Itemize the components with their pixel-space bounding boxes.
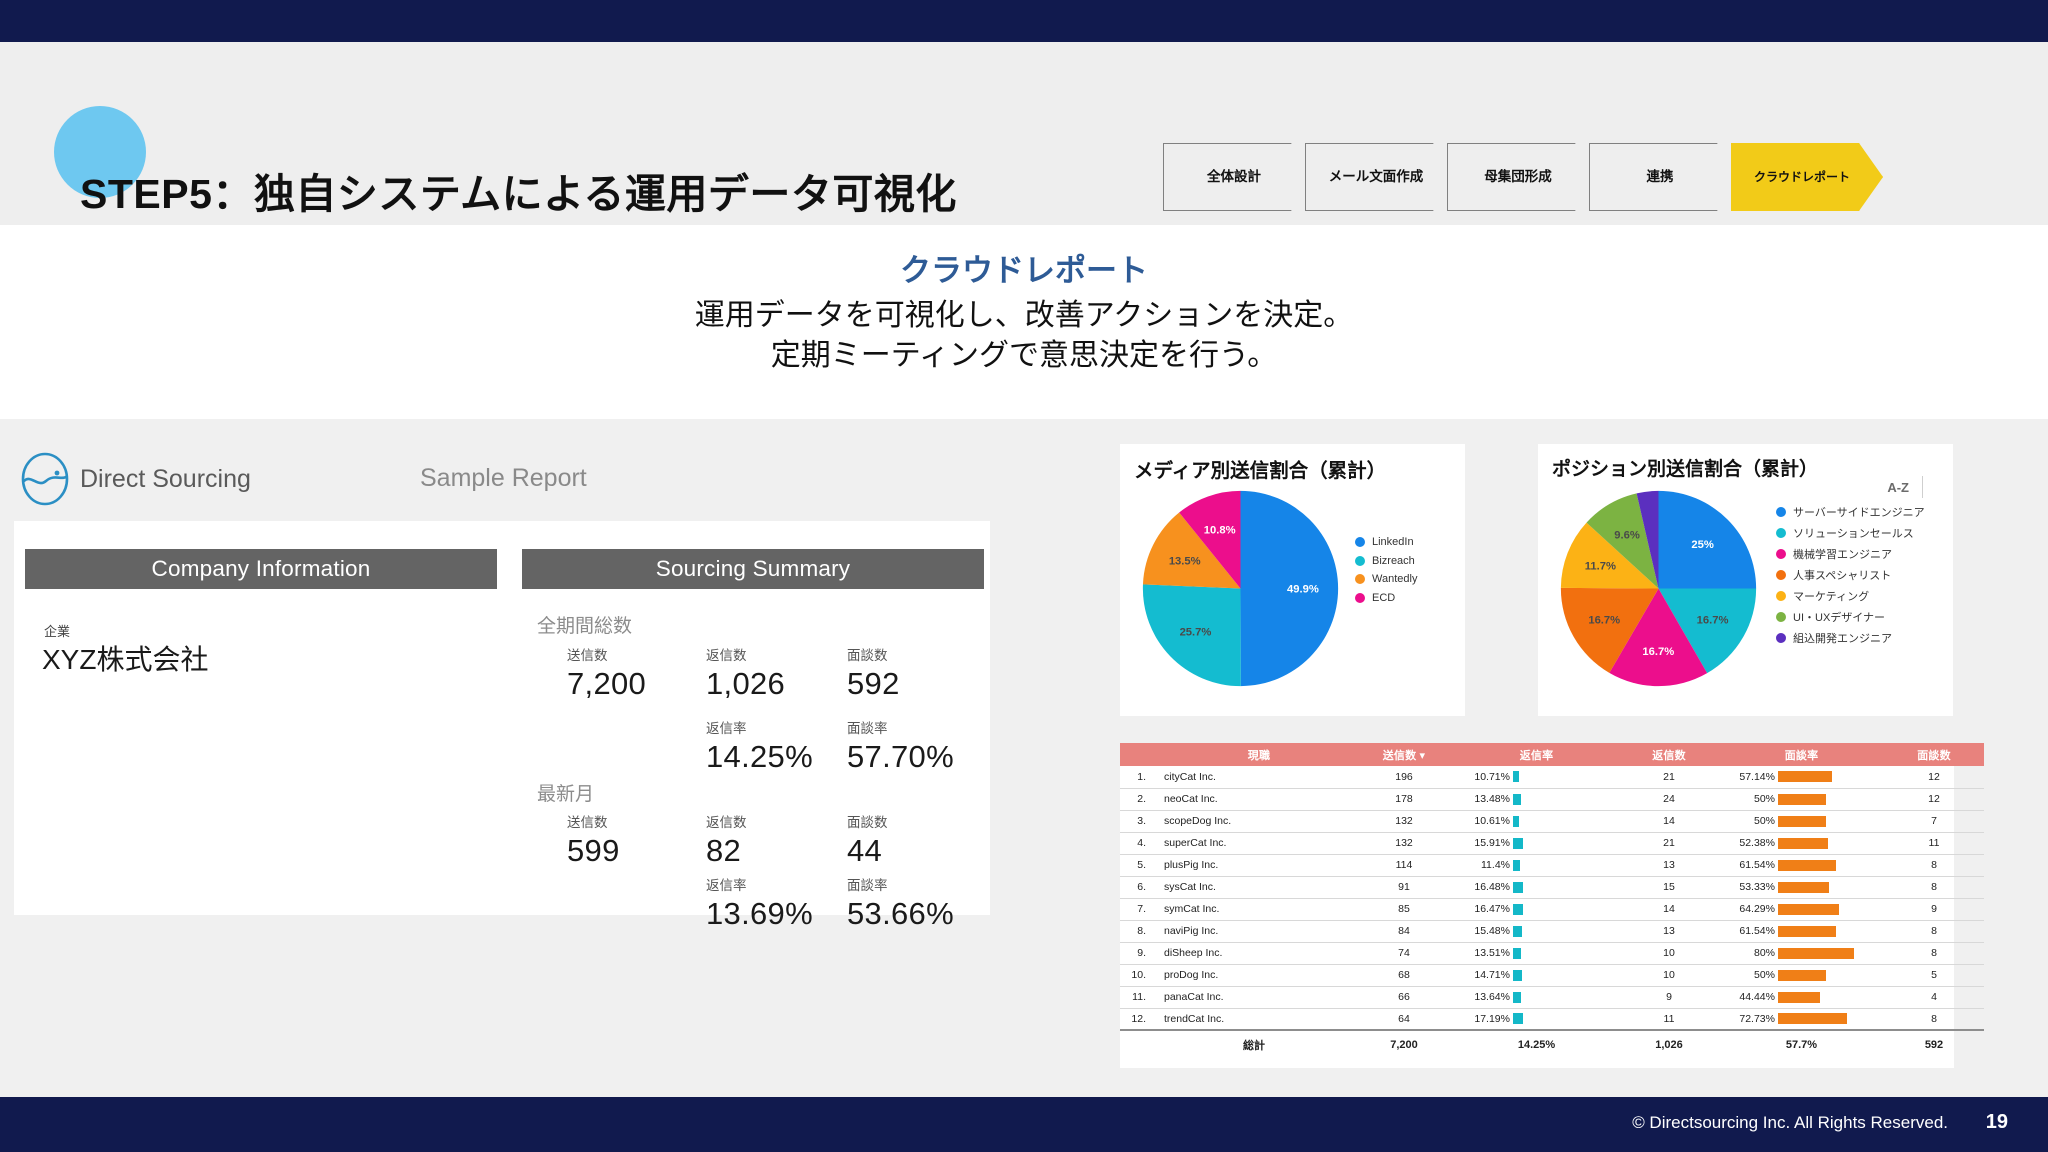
- position-pie-chart: 25%16.7%16.7%16.7%11.7%9.6%: [1556, 486, 1761, 691]
- pie-slice-label: 16.7%: [1697, 615, 1729, 627]
- legend-color-swatch: [1776, 528, 1786, 538]
- total-meetings: 592: [1884, 1030, 1984, 1058]
- metric-total-replies-label: 返信数: [706, 644, 785, 664]
- cell-index: 3.: [1120, 810, 1154, 832]
- subtitle-heading: クラウドレポート: [0, 245, 2048, 290]
- cell-meeting-rate-bar: [1778, 882, 1829, 893]
- position-pie-legend: サーバーサイドエンジニアソリューションセールス機械学習エンジニア人事スペシャリス…: [1776, 504, 1925, 651]
- cell-index: 9.: [1120, 942, 1154, 964]
- legend-color-swatch: [1355, 556, 1365, 566]
- legend-label: UI・UXデザイナー: [1793, 609, 1885, 625]
- metric-total-sent: 送信数 7,200: [567, 644, 646, 702]
- cell-sent: 132: [1354, 810, 1454, 832]
- subtitle-line-1: 運用データを可視化し、改善アクションを決定。: [0, 296, 2048, 336]
- metric-month-replies-label: 返信数: [706, 811, 747, 831]
- cell-company: scopeDog Inc.: [1154, 810, 1354, 832]
- th-reply-rate[interactable]: 返信率: [1454, 743, 1619, 766]
- cell-company: plusPig Inc.: [1154, 854, 1354, 876]
- metric-total-meetings-value: 592: [847, 666, 900, 702]
- table-row[interactable]: 2.neoCat Inc.17813.48%2450%12: [1120, 788, 1984, 810]
- metric-month-meeting-rate-value: 53.66%: [847, 896, 954, 932]
- legend-item[interactable]: LinkedIn: [1355, 536, 1417, 548]
- cell-reply-rate-text: 17.19%: [1454, 1013, 1510, 1025]
- cell-sent: 196: [1354, 766, 1454, 788]
- pie-slice-label: 25.7%: [1180, 627, 1212, 639]
- cell-reply-rate-bar: [1513, 882, 1523, 893]
- cell-meeting-rate: 64.29%: [1719, 898, 1884, 920]
- cell-reply-rate: 16.47%: [1454, 898, 1619, 920]
- cell-reply-rate-bar: [1513, 970, 1522, 981]
- cell-meeting-rate-text: 44.44%: [1719, 991, 1775, 1003]
- cell-sent: 74: [1354, 942, 1454, 964]
- cell-company: superCat Inc.: [1154, 832, 1354, 854]
- cell-replies: 24: [1619, 788, 1719, 810]
- cell-meeting-rate-bar: [1778, 794, 1826, 805]
- cell-meeting-rate-bar: [1778, 970, 1826, 981]
- table-total-row: 総計7,20014.25%1,02657.7%592: [1120, 1030, 1984, 1058]
- sort-az-icon[interactable]: A-Z: [1887, 480, 1909, 495]
- cell-replies: 21: [1619, 832, 1719, 854]
- pie-slice-label: 13.5%: [1169, 555, 1201, 567]
- cell-company: trendCat Inc.: [1154, 1008, 1354, 1030]
- cell-reply-rate: 11.4%: [1454, 854, 1619, 876]
- report-summary-card: Company Information Sourcing Summary 企業 …: [14, 521, 990, 915]
- cell-reply-rate: 16.48%: [1454, 876, 1619, 898]
- th-company[interactable]: 現職: [1154, 743, 1354, 766]
- step-breadcrumb: 全体設計 メール文面作成 母集団形成 連携 クラウドレポート: [1163, 143, 1873, 211]
- cell-index: 11.: [1120, 986, 1154, 1008]
- cell-meetings: 5: [1884, 964, 1984, 986]
- cell-replies: 10: [1619, 964, 1719, 986]
- cell-reply-rate: 13.64%: [1454, 986, 1619, 1008]
- cell-reply-rate-bar: [1513, 771, 1519, 782]
- cell-index: 8.: [1120, 920, 1154, 942]
- cell-meeting-rate-text: 50%: [1719, 969, 1775, 981]
- cell-meeting-rate: 80%: [1719, 942, 1884, 964]
- cell-meeting-rate: 57.14%: [1719, 766, 1884, 788]
- th-replies[interactable]: 返信数: [1619, 743, 1719, 766]
- cell-sent: 84: [1354, 920, 1454, 942]
- cell-meeting-rate-bar: [1778, 1013, 1847, 1024]
- legend-item[interactable]: Wantedly: [1355, 573, 1417, 585]
- cell-sent: 91: [1354, 876, 1454, 898]
- cell-meeting-rate-text: 52.38%: [1719, 837, 1775, 849]
- legend-item[interactable]: マーケティング: [1776, 588, 1925, 604]
- cell-sent: 178: [1354, 788, 1454, 810]
- metric-month-sent: 送信数 599: [567, 811, 620, 869]
- total-replies: 1,026: [1619, 1030, 1719, 1058]
- legend-label: ECD: [1372, 592, 1395, 604]
- metric-month-meetings-label: 面談数: [847, 811, 888, 831]
- cell-meeting-rate-bar: [1778, 926, 1836, 937]
- total-reply-rate: 14.25%: [1454, 1030, 1619, 1058]
- metric-total-reply-rate-value: 14.25%: [706, 739, 813, 775]
- metric-month-sent-value: 599: [567, 833, 620, 869]
- cell-reply-rate-bar: [1513, 838, 1523, 849]
- cell-meeting-rate: 50%: [1719, 810, 1884, 832]
- cell-meeting-rate: 61.54%: [1719, 920, 1884, 942]
- cell-reply-rate: 14.71%: [1454, 964, 1619, 986]
- cell-reply-rate-text: 14.71%: [1454, 969, 1510, 981]
- cell-replies: 9: [1619, 986, 1719, 1008]
- cell-meeting-rate-text: 72.73%: [1719, 1013, 1775, 1025]
- cell-reply-rate-text: 13.48%: [1454, 793, 1510, 805]
- th-meetings[interactable]: 面談数: [1884, 743, 1984, 766]
- group-title-latest-month: 最新月: [537, 779, 594, 806]
- report-header: Direct Sourcing Sample Report: [0, 440, 990, 528]
- cell-sent: 85: [1354, 898, 1454, 920]
- cell-reply-rate: 10.61%: [1454, 810, 1619, 832]
- cell-replies: 14: [1619, 898, 1719, 920]
- legend-label: LinkedIn: [1372, 536, 1414, 548]
- top-navy-bar: [0, 0, 2048, 42]
- cell-meeting-rate-bar: [1778, 860, 1836, 871]
- step-chevron-3-label: 母集団形成: [1478, 168, 1568, 186]
- cell-meetings: 11: [1884, 832, 1984, 854]
- subtitle-line-2: 定期ミーティングで意思決定を行う。: [0, 336, 2048, 376]
- table-row[interactable]: 10.proDog Inc.6814.71%1050%5: [1120, 964, 1984, 986]
- table-row[interactable]: 4.superCat Inc.13215.91%2152.38%11: [1120, 832, 1984, 854]
- metric-month-meetings: 面談数 44: [847, 811, 888, 869]
- cell-reply-rate-text: 13.64%: [1454, 991, 1510, 1003]
- legend-item[interactable]: ECD: [1355, 592, 1417, 604]
- cell-index: 10.: [1120, 964, 1154, 986]
- cell-replies: 13: [1619, 920, 1719, 942]
- metric-total-replies-value: 1,026: [706, 666, 785, 702]
- legend-color-swatch: [1776, 507, 1786, 517]
- footer-page-number: 19: [1986, 1111, 2008, 1134]
- cell-company: neoCat Inc.: [1154, 788, 1354, 810]
- cell-reply-rate-bar: [1513, 860, 1520, 871]
- step-chevron-2[interactable]: メール文面作成: [1305, 143, 1457, 211]
- table-row[interactable]: 3.scopeDog Inc.13210.61%1450%7: [1120, 810, 1984, 832]
- table-row[interactable]: 1.cityCat Inc.19610.71%2157.14%12: [1120, 766, 1984, 788]
- cell-reply-rate: 15.48%: [1454, 920, 1619, 942]
- metric-total-reply-rate: 返信率 14.25%: [706, 717, 813, 775]
- legend-color-swatch: [1355, 593, 1365, 603]
- step-chevron-3[interactable]: 母集団形成: [1447, 143, 1599, 211]
- step-chevron-5[interactable]: クラウドレポート: [1731, 143, 1883, 211]
- cell-company: symCat Inc.: [1154, 898, 1354, 920]
- cell-reply-rate-text: 11.4%: [1454, 859, 1510, 871]
- company-ranking-table-card: 現職 送信数 ▾ 返信率 返信数 面談率 面談数 1.cityCat Inc.1…: [1120, 743, 1954, 1068]
- cell-meeting-rate-text: 53.33%: [1719, 881, 1775, 893]
- pie-slice-label: 25%: [1691, 539, 1713, 551]
- step-chevron-4-label: 連携: [1641, 168, 1690, 186]
- metric-month-meetings-value: 44: [847, 833, 888, 869]
- metric-month-replies: 返信数 82: [706, 811, 747, 869]
- table-row[interactable]: 11.panaCat Inc.6613.64%944.44%4: [1120, 986, 1984, 1008]
- cell-reply-rate-text: 16.47%: [1454, 903, 1510, 915]
- cell-meeting-rate-bar: [1778, 948, 1854, 959]
- cell-replies: 10: [1619, 942, 1719, 964]
- metric-total-meetings: 面談数 592: [847, 644, 900, 702]
- cell-sent: 132: [1354, 832, 1454, 854]
- metric-month-reply-rate-label: 返信率: [706, 874, 813, 894]
- cell-meetings: 7: [1884, 810, 1984, 832]
- cell-replies: 13: [1619, 854, 1719, 876]
- cell-replies: 15: [1619, 876, 1719, 898]
- sourcing-summary-header: Sourcing Summary: [522, 549, 984, 589]
- pie-slice-label: 16.7%: [1588, 614, 1620, 626]
- metric-total-sent-label: 送信数: [567, 644, 646, 664]
- cell-meeting-rate-text: 61.54%: [1719, 859, 1775, 871]
- legend-label: 組込開発エンジニア: [1793, 630, 1892, 646]
- legend-label: 機械学習エンジニア: [1793, 546, 1892, 562]
- metric-month-replies-value: 82: [706, 833, 747, 869]
- cell-reply-rate: 17.19%: [1454, 1008, 1619, 1030]
- legend-item[interactable]: 組込開発エンジニア: [1776, 630, 1925, 646]
- cell-reply-rate-bar: [1513, 904, 1523, 915]
- cell-meeting-rate: 72.73%: [1719, 1008, 1884, 1030]
- legend-item[interactable]: Bizreach: [1355, 555, 1417, 567]
- cell-replies: 21: [1619, 766, 1719, 788]
- toolbar-divider: [1922, 476, 1923, 498]
- cell-meeting-rate-bar: [1778, 838, 1828, 849]
- metric-month-reply-rate: 返信率 13.69%: [706, 874, 813, 932]
- cell-meetings: 8: [1884, 1008, 1984, 1030]
- cell-reply-rate-text: 10.71%: [1454, 771, 1510, 783]
- step-chevron-5-label: クラウドレポート: [1748, 169, 1866, 185]
- cell-meetings: 8: [1884, 854, 1984, 876]
- cell-reply-rate: 13.51%: [1454, 942, 1619, 964]
- cell-reply-rate-bar: [1513, 816, 1519, 827]
- cell-sent: 66: [1354, 986, 1454, 1008]
- table-row[interactable]: 7.symCat Inc.8516.47%1464.29%9: [1120, 898, 1984, 920]
- media-pie-card: メディア別送信割合（累計） 49.9%25.7%13.5%10.8% Linke…: [1120, 444, 1465, 716]
- cell-reply-rate-text: 10.61%: [1454, 815, 1510, 827]
- footer-copyright: © Directsourcing Inc. All Rights Reserve…: [1632, 1113, 1948, 1133]
- legend-label: Bizreach: [1372, 555, 1415, 567]
- cell-reply-rate-bar: [1513, 794, 1521, 805]
- table-header-row: 現職 送信数 ▾ 返信率 返信数 面談率 面談数: [1120, 743, 1984, 766]
- page-title: STEP5：独自システムによる運用データ可視化: [80, 160, 957, 220]
- cell-index: 2.: [1120, 788, 1154, 810]
- media-pie-chart: 49.9%25.7%13.5%10.8%: [1138, 486, 1343, 691]
- cell-reply-rate-bar: [1513, 992, 1521, 1003]
- cell-sent: 64: [1354, 1008, 1454, 1030]
- cell-reply-rate-bar: [1513, 948, 1521, 959]
- legend-item[interactable]: 機械学習エンジニア: [1776, 546, 1925, 562]
- metric-total-meeting-rate-value: 57.70%: [847, 739, 954, 775]
- cell-meeting-rate: 61.54%: [1719, 854, 1884, 876]
- footer-bar: © Directsourcing Inc. All Rights Reserve…: [0, 1097, 2048, 1152]
- table-body: 1.cityCat Inc.19610.71%2157.14%122.neoCa…: [1120, 766, 1984, 1058]
- metric-total-sent-value: 7,200: [567, 666, 646, 702]
- cell-index: 1.: [1120, 766, 1154, 788]
- metric-month-meeting-rate-label: 面談率: [847, 874, 954, 894]
- step-chevron-4[interactable]: 連携: [1589, 143, 1741, 211]
- legend-label: 人事スペシャリスト: [1793, 567, 1891, 583]
- legend-item[interactable]: UI・UXデザイナー: [1776, 609, 1925, 625]
- cell-index: 12.: [1120, 1008, 1154, 1030]
- cell-meetings: 9: [1884, 898, 1984, 920]
- cell-reply-rate: 15.91%: [1454, 832, 1619, 854]
- cell-meetings: 8: [1884, 920, 1984, 942]
- legend-item[interactable]: サーバーサイドエンジニア: [1776, 504, 1925, 520]
- cell-meeting-rate: 44.44%: [1719, 986, 1884, 1008]
- metric-total-meeting-rate-label: 面談率: [847, 717, 954, 737]
- cell-replies: 14: [1619, 810, 1719, 832]
- cell-index: 4.: [1120, 832, 1154, 854]
- cell-meeting-rate-bar: [1778, 992, 1820, 1003]
- company-name-value: XYZ株式会社: [42, 638, 208, 678]
- table-head: 現職 送信数 ▾ 返信率 返信数 面談率 面談数: [1120, 743, 1984, 766]
- cell-reply-rate-text: 15.48%: [1454, 925, 1510, 937]
- total-meeting-rate: 57.7%: [1719, 1030, 1884, 1058]
- total-label: 総計: [1154, 1030, 1354, 1058]
- position-pie-title: ポジション別送信割合（累計）: [1552, 454, 1818, 481]
- cell-meeting-rate-text: 50%: [1719, 793, 1775, 805]
- cell-meeting-rate-text: 50%: [1719, 815, 1775, 827]
- cell-meetings: 4: [1884, 986, 1984, 1008]
- th-index[interactable]: [1120, 743, 1154, 766]
- cell-reply-rate-bar: [1513, 1013, 1523, 1024]
- cell-index: 7.: [1120, 898, 1154, 920]
- metric-total-meetings-label: 面談数: [847, 644, 900, 664]
- cell-company: panaCat Inc.: [1154, 986, 1354, 1008]
- cell-meeting-rate-bar: [1778, 816, 1826, 827]
- step-chevron-2-label: メール文面作成: [1323, 168, 1440, 186]
- pie-slice-label: 9.6%: [1614, 529, 1640, 541]
- brand-name: Direct Sourcing: [80, 465, 251, 494]
- cell-reply-rate: 10.71%: [1454, 766, 1619, 788]
- metric-month-reply-rate-value: 13.69%: [706, 896, 813, 932]
- table-row[interactable]: 6.sysCat Inc.9116.48%1553.33%8: [1120, 876, 1984, 898]
- legend-item[interactable]: 人事スペシャリスト: [1776, 567, 1925, 583]
- th-sent[interactable]: 送信数 ▾: [1354, 743, 1454, 766]
- legend-color-swatch: [1776, 591, 1786, 601]
- legend-color-swatch: [1776, 612, 1786, 622]
- cell-meetings: 12: [1884, 788, 1984, 810]
- cell-meeting-rate-text: 64.29%: [1719, 903, 1775, 915]
- step-chevron-1-label: 全体設計: [1201, 168, 1277, 186]
- cell-meeting-rate-bar: [1778, 771, 1832, 782]
- legend-item[interactable]: ソリューションセールス: [1776, 525, 1925, 541]
- cell-reply-rate-text: 15.91%: [1454, 837, 1510, 849]
- legend-label: Wantedly: [1372, 573, 1417, 585]
- metric-total-meeting-rate: 面談率 57.70%: [847, 717, 954, 775]
- table-row[interactable]: 9.diSheep Inc.7413.51%1080%8: [1120, 942, 1984, 964]
- cell-reply-rate-bar: [1513, 926, 1522, 937]
- cell-meeting-rate-text: 57.14%: [1719, 771, 1775, 783]
- cell-reply-rate-text: 16.48%: [1454, 881, 1510, 893]
- cell-company: sysCat Inc.: [1154, 876, 1354, 898]
- legend-label: マーケティング: [1793, 588, 1869, 604]
- metric-total-replies: 返信数 1,026: [706, 644, 785, 702]
- metric-month-meeting-rate: 面談率 53.66%: [847, 874, 954, 932]
- cell-meeting-rate-text: 61.54%: [1719, 925, 1775, 937]
- cell-meeting-rate-text: 80%: [1719, 947, 1775, 959]
- th-meeting-rate[interactable]: 面談率: [1719, 743, 1884, 766]
- direct-sourcing-logo-icon: [16, 450, 74, 508]
- cell-company: diSheep Inc.: [1154, 942, 1354, 964]
- pie-slice-label: 16.7%: [1642, 646, 1674, 658]
- legend-color-swatch: [1776, 633, 1786, 643]
- cell-replies: 11: [1619, 1008, 1719, 1030]
- total-index: [1120, 1030, 1154, 1058]
- cell-meetings: 12: [1884, 766, 1984, 788]
- cell-sent: 114: [1354, 854, 1454, 876]
- pie-slice-label: 49.9%: [1287, 583, 1319, 595]
- cell-reply-rate: 13.48%: [1454, 788, 1619, 810]
- total-sent: 7,200: [1354, 1030, 1454, 1058]
- legend-label: サーバーサイドエンジニア: [1793, 504, 1925, 520]
- cell-sent: 68: [1354, 964, 1454, 986]
- cell-company: cityCat Inc.: [1154, 766, 1354, 788]
- cell-reply-rate-text: 13.51%: [1454, 947, 1510, 959]
- pie-slice-label: 11.7%: [1585, 561, 1616, 573]
- cell-meetings: 8: [1884, 876, 1984, 898]
- title-band: STEP5：独自システムによる運用データ可視化 全体設計 メール文面作成 母集団…: [0, 42, 2048, 225]
- cell-meeting-rate: 53.33%: [1719, 876, 1884, 898]
- cell-meeting-rate: 50%: [1719, 788, 1884, 810]
- cell-meetings: 8: [1884, 942, 1984, 964]
- legend-label: ソリューションセールス: [1793, 525, 1914, 541]
- cell-meeting-rate: 50%: [1719, 964, 1884, 986]
- cell-index: 5.: [1120, 854, 1154, 876]
- table-row[interactable]: 8.naviPig Inc.8415.48%1361.54%8: [1120, 920, 1984, 942]
- cell-company: naviPig Inc.: [1154, 920, 1354, 942]
- subtitle-block: クラウドレポート 運用データを可視化し、改善アクションを決定。 定期ミーティング…: [0, 245, 2048, 375]
- legend-color-swatch: [1355, 537, 1365, 547]
- media-pie-legend: LinkedInBizreachWantedlyECD: [1355, 536, 1417, 610]
- position-pie-card: ポジション別送信割合（累計） A-Z 25%16.7%16.7%16.7%11.…: [1538, 444, 1953, 716]
- company-information-header: Company Information: [25, 549, 497, 589]
- metric-month-sent-label: 送信数: [567, 811, 620, 831]
- cell-company: proDog Inc.: [1154, 964, 1354, 986]
- step-chevron-1[interactable]: 全体設計: [1163, 143, 1315, 211]
- company-ranking-table: 現職 送信数 ▾ 返信率 返信数 面談率 面談数 1.cityCat Inc.1…: [1120, 743, 1984, 1058]
- table-row[interactable]: 12.trendCat Inc.6417.19%1172.73%8: [1120, 1008, 1984, 1030]
- cell-index: 6.: [1120, 876, 1154, 898]
- media-pie-title: メディア別送信割合（累計）: [1134, 454, 1386, 483]
- table-row[interactable]: 5.plusPig Inc.11411.4%1361.54%8: [1120, 854, 1984, 876]
- pie-slice-label: 10.8%: [1204, 524, 1236, 536]
- group-title-total: 全期間総数: [537, 611, 632, 638]
- legend-color-swatch: [1776, 570, 1786, 580]
- report-name: Sample Report: [420, 464, 587, 493]
- cell-meeting-rate: 52.38%: [1719, 832, 1884, 854]
- metric-total-reply-rate-label: 返信率: [706, 717, 813, 737]
- cell-meeting-rate-bar: [1778, 904, 1839, 915]
- legend-color-swatch: [1355, 574, 1365, 584]
- legend-color-swatch: [1776, 549, 1786, 559]
